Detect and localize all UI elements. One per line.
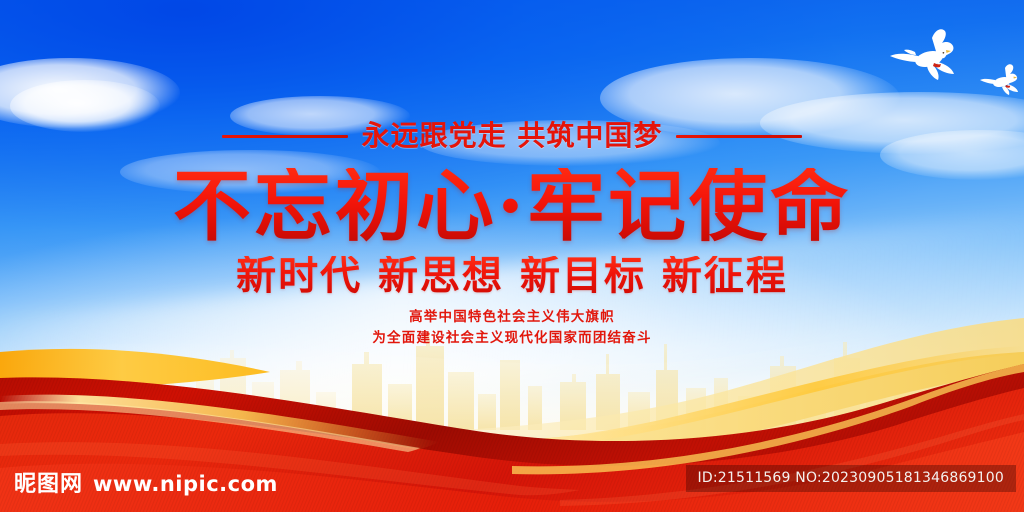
headline-text: 永远跟党走 共筑中国梦 bbox=[362, 122, 663, 150]
brand-url: www.nipic.com bbox=[93, 472, 278, 496]
poster-canvas: 永远跟党走 共筑中国梦 不忘初心·牢记使命 新时代 新思想 新目标 新征程 高举… bbox=[0, 0, 1024, 512]
rule-left-decoration bbox=[222, 135, 348, 138]
slogan-block: 高举中国特色社会主义伟大旗帜 为全面建设社会主义现代化国家而团结奋斗 bbox=[0, 307, 1024, 349]
main-title: 不忘初心·牢记使命 bbox=[0, 168, 1024, 246]
slogan-line-1: 高举中国特色社会主义伟大旗帜 bbox=[0, 307, 1024, 328]
headline-row: 永远跟党走 共筑中国梦 bbox=[0, 122, 1024, 150]
brand-name-cn: 昵图网 bbox=[14, 466, 83, 498]
rule-right-decoration bbox=[676, 135, 802, 138]
slogan-line-2: 为全面建设社会主义现代化国家而团结奋斗 bbox=[0, 328, 1024, 349]
site-watermark: 昵图网 www.nipic.com bbox=[14, 466, 278, 498]
sub-title: 新时代 新思想 新目标 新征程 bbox=[0, 256, 1024, 296]
image-id-badge: ID:21511569 NO:20230905181346869100 bbox=[686, 465, 1016, 492]
